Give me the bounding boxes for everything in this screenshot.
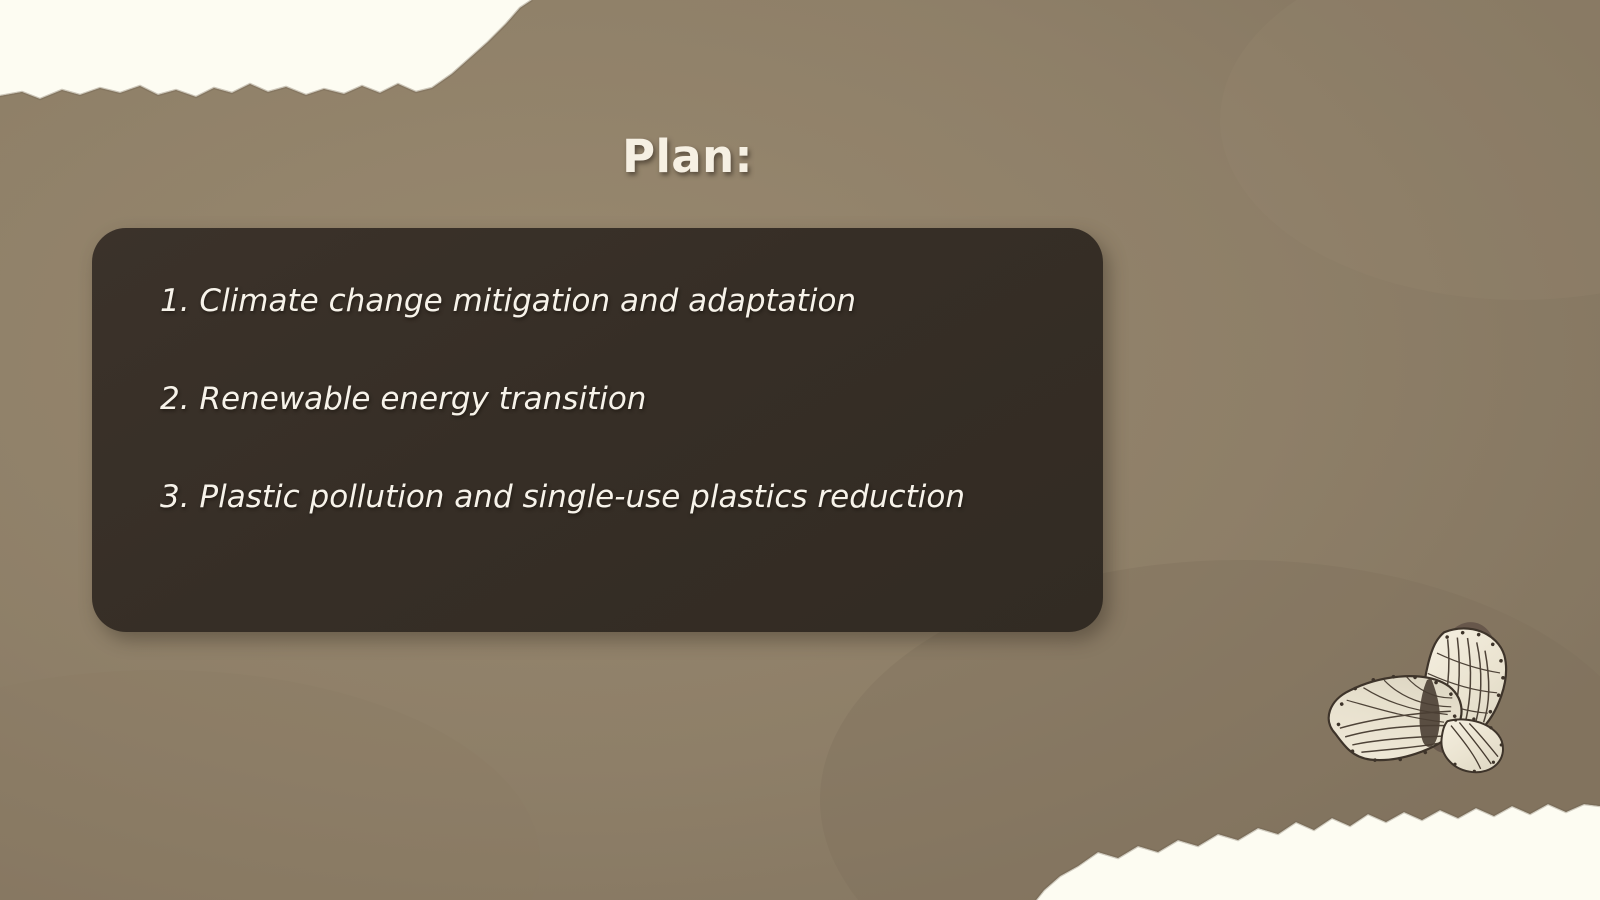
page-title: Plan:: [0, 130, 1375, 183]
slide-canvas: Plan: 1. Climate change mitigation and a…: [0, 0, 1600, 900]
list-item: 2. Renewable energy transition: [160, 372, 1103, 470]
list-item: 1. Climate change mitigation and adaptat…: [160, 274, 1103, 372]
butterfly-icon: [1303, 618, 1518, 800]
plan-card: 1. Climate change mitigation and adaptat…: [92, 228, 1103, 632]
list-item: 3. Plastic pollution and single-use plas…: [160, 470, 1103, 568]
plan-list: 1. Climate change mitigation and adaptat…: [92, 274, 1103, 568]
